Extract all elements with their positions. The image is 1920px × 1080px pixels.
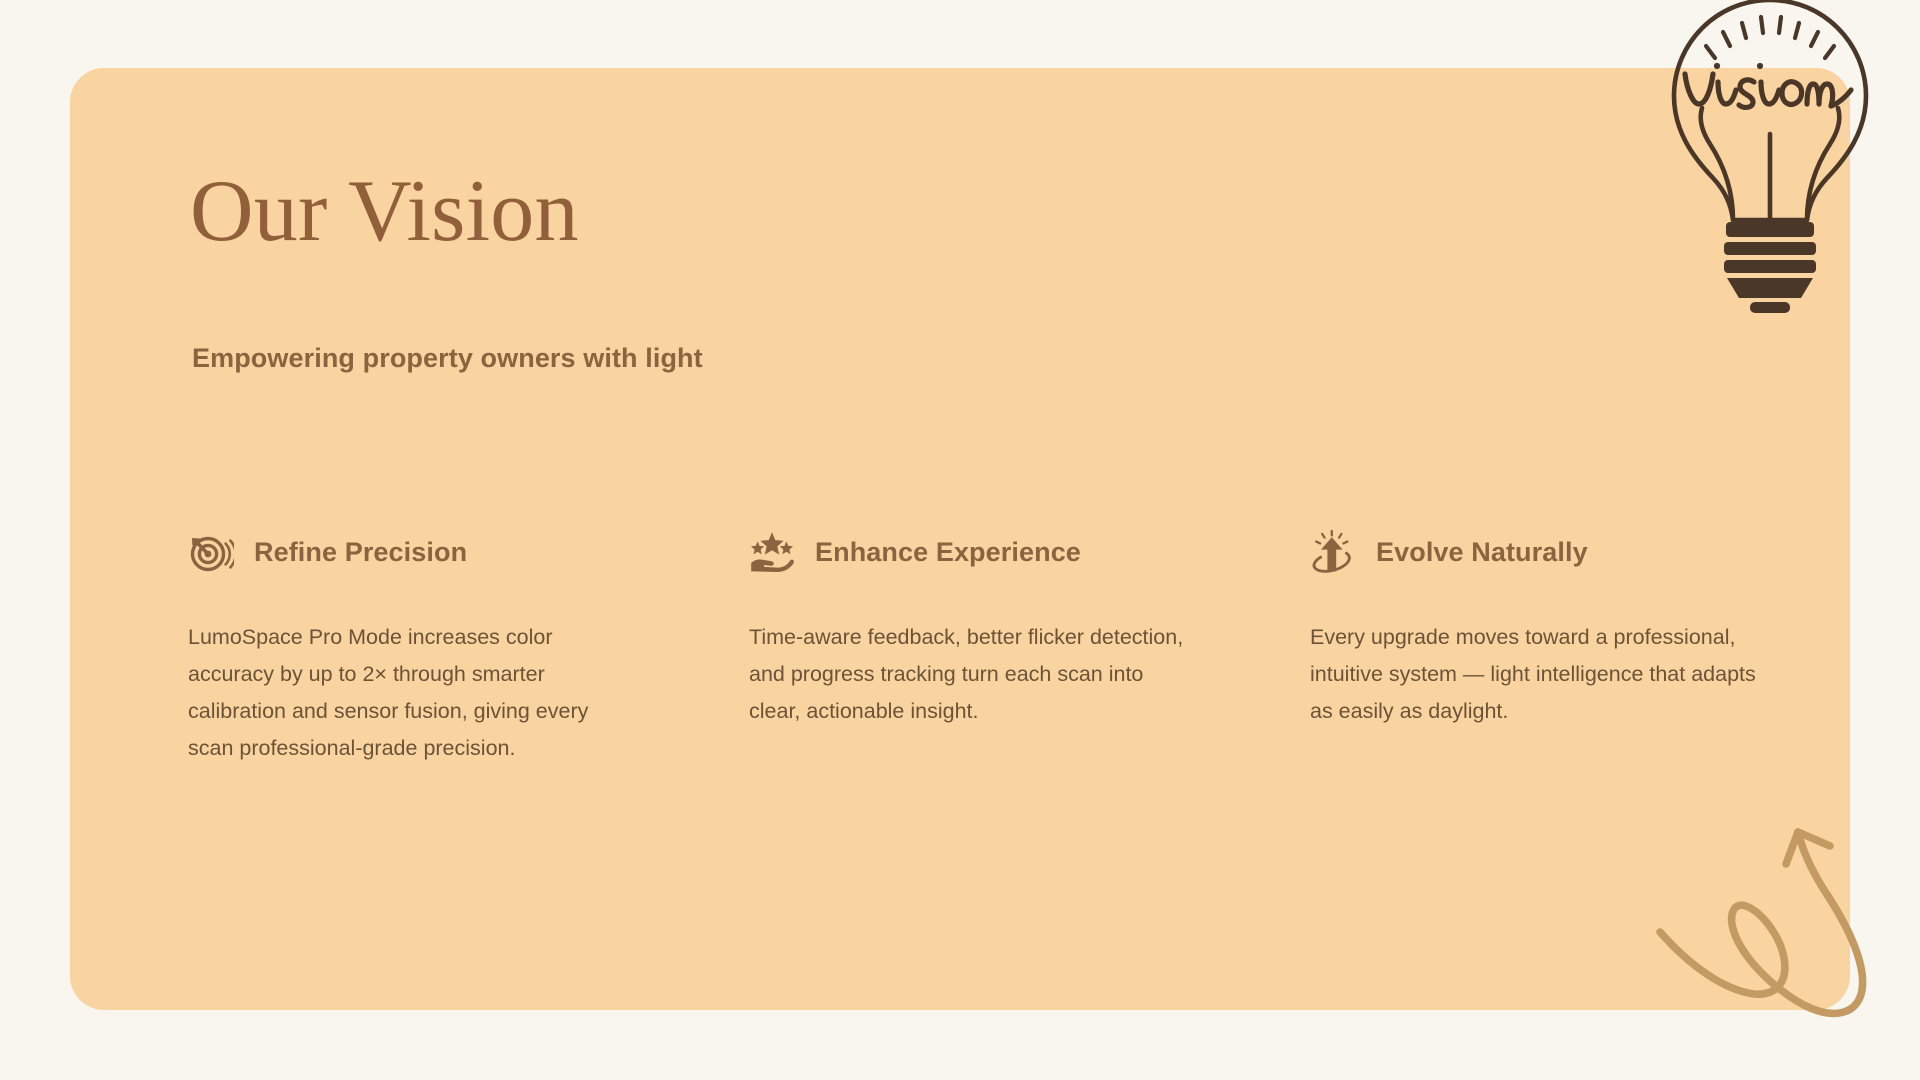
vision-slide-card: Our Vision Empowering property owners wi…	[70, 68, 1850, 1010]
page-title: Our Vision	[190, 168, 579, 256]
feature-title: Refine Precision	[254, 537, 467, 568]
feature-card-enhance-experience: Enhance Experience Time-aware feedback, …	[749, 523, 1207, 767]
feature-title: Evolve Naturally	[1376, 537, 1588, 568]
feature-card-evolve-naturally: Evolve Naturally Every upgrade moves tow…	[1310, 523, 1768, 767]
feature-title: Enhance Experience	[815, 537, 1081, 568]
page-subtitle: Empowering property owners with light	[192, 343, 703, 374]
hand-holding-stars-icon	[749, 529, 795, 575]
feature-description: LumoSpace Pro Mode increases color accur…	[188, 619, 636, 767]
feature-header: Enhance Experience	[749, 523, 1207, 581]
feature-description: Time-aware feedback, better flicker dete…	[749, 619, 1197, 730]
feature-header: Refine Precision	[188, 523, 646, 581]
feature-card-refine-precision: Refine Precision LumoSpace Pro Mode incr…	[188, 523, 646, 767]
feature-header: Evolve Naturally	[1310, 523, 1768, 581]
target-dart-icon	[188, 529, 234, 575]
feature-columns: Refine Precision LumoSpace Pro Mode incr…	[188, 523, 1768, 767]
feature-description: Every upgrade moves toward a professiona…	[1310, 619, 1758, 730]
arrow-up-orbit-icon	[1310, 529, 1356, 575]
